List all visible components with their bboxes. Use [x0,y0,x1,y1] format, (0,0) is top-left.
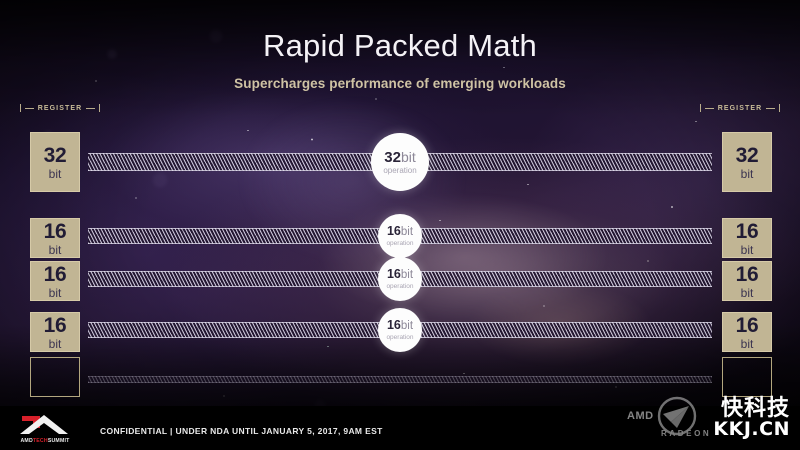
operation-number: 16 [387,268,401,281]
dimension-line-icon [766,108,775,109]
slide-canvas: Rapid Packed Math Supercharges performan… [0,0,800,450]
dimension-cap-icon [99,104,100,112]
register-box-left-16bit-b: 16 bit [30,261,80,301]
register-box-left-16bit-c: 16 bit [30,312,80,352]
operation-unit: bit [401,321,413,333]
dimension-cap-icon [779,104,780,112]
operation-unit: bit [401,227,413,239]
register-box-left-32bit: 32 bit [30,132,80,192]
bar-edge-bottom [88,382,712,383]
operation-bubble-16bit-c: 16 bit operation [378,308,422,352]
dimension-line-icon [86,108,95,109]
register-unit: bit [741,338,754,350]
dimension-line-icon [25,108,34,109]
confidential-notice: CONFIDENTIAL | UNDER NDA UNTIL JANUARY 5… [100,426,383,436]
register-box-right-32bit: 32 bit [722,132,772,192]
operation-caption: operation [386,335,413,342]
operation-number: 16 [387,319,401,332]
operation-unit: bit [401,150,416,164]
amd-tech-summit-wordmark: AMDTECHSUMMIT [14,438,76,444]
register-unit: bit [741,168,754,180]
register-value: 16 [736,315,759,336]
register-label-left-text: REGISTER [38,105,83,112]
watermark-radeon-text: RADEON [661,429,711,438]
logo-amd-text: AMD [20,438,32,444]
register-value: 32 [44,145,67,166]
register-label-left: REGISTER [12,104,108,112]
register-value: 16 [44,221,67,242]
register-value: 32 [736,145,759,166]
watermark-site-text: KKJ.CN [713,418,790,440]
page-title: Rapid Packed Math [0,28,800,64]
operation-bits: 16 bit [387,225,413,239]
register-unit: bit [49,168,62,180]
amd-radeon-watermark: AMD RADEON [627,396,697,436]
register-unit: bit [741,244,754,256]
register-box-right-16bit-b: 16 bit [722,261,772,301]
logo-summit-text: SUMMIT [48,438,70,444]
register-label-right: REGISTER [692,104,788,112]
register-unit: bit [49,338,62,350]
register-box-right-16bit-c: 16 bit [722,312,772,352]
page-subtitle: Supercharges performance of emerging wor… [0,76,800,91]
operation-bits: 32 bit [384,150,415,165]
operation-bubble-32bit: 32 bit operation [371,133,429,191]
register-box-left-empty [30,357,80,397]
dimension-line-icon [705,108,714,109]
register-value: 16 [44,264,67,285]
dimension-cap-icon [700,104,701,112]
register-unit: bit [741,287,754,299]
watermark: AMD RADEON 快科技 KKJ.CN [627,394,792,444]
dimension-cap-icon [20,104,21,112]
operation-bits: 16 bit [387,268,413,282]
register-box-right-16bit-a: 16 bit [722,218,772,258]
register-value: 16 [44,315,67,336]
operation-bits: 16 bit [387,319,413,333]
amd-chevron-icon [14,412,76,438]
datapath-bar-inactive [88,376,712,383]
operation-number: 16 [387,225,401,238]
bar-edge-top [88,376,712,377]
register-unit: bit [49,287,62,299]
operation-number: 32 [384,150,401,165]
operation-caption: operation [386,241,413,248]
amd-tech-summit-logo: AMDTECHSUMMIT [14,412,76,444]
register-box-left-16bit-a: 16 bit [30,218,80,258]
operation-unit: bit [401,270,413,282]
operation-bubble-16bit-b: 16 bit operation [378,257,422,301]
register-value: 16 [736,221,759,242]
register-unit: bit [49,244,62,256]
operation-caption: operation [386,284,413,291]
register-value: 16 [736,264,759,285]
operation-caption: operation [383,167,416,175]
watermark-amd-text: AMD [627,410,654,422]
operation-bubble-16bit-a: 16 bit operation [378,214,422,258]
register-label-right-text: REGISTER [718,105,763,112]
logo-tech-text: TECH [33,438,48,444]
